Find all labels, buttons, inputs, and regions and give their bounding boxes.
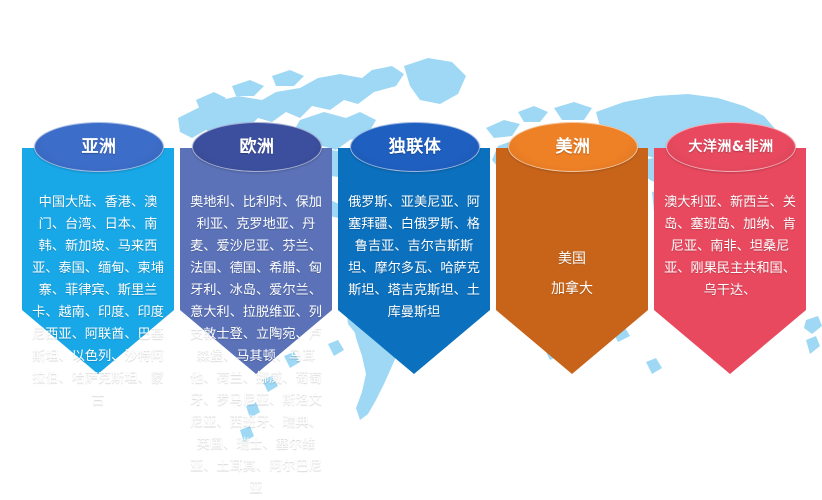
poster-stage: 中国大陆、香港、澳门、台湾、日本、南韩、新加坡、马来西亚、泰国、缅甸、柬埔寨、菲… <box>0 0 822 470</box>
banner-body-americas: 美国 加拿大 <box>496 148 648 374</box>
banner-body-europe: 奥地利、比利时、保加利亚、克罗地亚、丹麦、爱沙尼亚、芬兰、法国、德国、希腊、匈牙… <box>180 148 332 374</box>
region-list-cis: 俄罗斯、亚美尼亚、阿塞拜疆、白俄罗斯、格鲁吉亚、吉尔吉斯斯坦、摩尔多瓦、哈萨克斯… <box>346 192 482 324</box>
region-title-cis: 独联体 <box>383 138 448 157</box>
region-banner-oceania-africa[interactable]: 澳大利亚、新西兰、关岛、塞班岛、加纳、肯尼亚、南非、坦桑尼亚、刚果民主共和国、乌… <box>654 122 806 374</box>
region-banner-americas[interactable]: 美国 加拿大 美洲 <box>496 122 648 374</box>
region-title-europe: 欧洲 <box>234 138 281 157</box>
region-banner-europe[interactable]: 奥地利、比利时、保加利亚、克罗地亚、丹麦、爱沙尼亚、芬兰、法国、德国、希腊、匈牙… <box>180 122 332 374</box>
banner-body-asia: 中国大陆、香港、澳门、台湾、日本、南韩、新加坡、马来西亚、泰国、缅甸、柬埔寨、菲… <box>22 148 174 374</box>
region-cap-cis[interactable]: 独联体 <box>350 122 480 172</box>
region-cap-americas[interactable]: 美洲 <box>508 122 638 172</box>
region-cap-oceania-africa[interactable]: 大洋洲&非洲 <box>666 122 796 172</box>
region-banner-cis[interactable]: 俄罗斯、亚美尼亚、阿塞拜疆、白俄罗斯、格鲁吉亚、吉尔吉斯斯坦、摩尔多瓦、哈萨克斯… <box>338 122 490 374</box>
region-title-oceania-africa: 大洋洲&非洲 <box>682 139 779 155</box>
region-title-asia: 亚洲 <box>76 138 123 157</box>
region-list-asia: 中国大陆、香港、澳门、台湾、日本、南韩、新加坡、马来西亚、泰国、缅甸、柬埔寨、菲… <box>30 192 166 412</box>
region-cap-europe[interactable]: 欧洲 <box>192 122 322 172</box>
region-title-americas: 美洲 <box>550 138 597 157</box>
banner-body-cis: 俄罗斯、亚美尼亚、阿塞拜疆、白俄罗斯、格鲁吉亚、吉尔吉斯斯坦、摩尔多瓦、哈萨克斯… <box>338 148 490 374</box>
region-cap-asia[interactable]: 亚洲 <box>34 122 164 172</box>
region-list-europe: 奥地利、比利时、保加利亚、克罗地亚、丹麦、爱沙尼亚、芬兰、法国、德国、希腊、匈牙… <box>188 192 324 500</box>
region-list-americas: 美国 加拿大 <box>504 244 640 304</box>
region-banner-asia[interactable]: 中国大陆、香港、澳门、台湾、日本、南韩、新加坡、马来西亚、泰国、缅甸、柬埔寨、菲… <box>22 122 174 374</box>
banner-body-oceania-africa: 澳大利亚、新西兰、关岛、塞班岛、加纳、肯尼亚、南非、坦桑尼亚、刚果民主共和国、乌… <box>654 148 806 374</box>
region-list-oceania-africa: 澳大利亚、新西兰、关岛、塞班岛、加纳、肯尼亚、南非、坦桑尼亚、刚果民主共和国、乌… <box>662 192 798 302</box>
